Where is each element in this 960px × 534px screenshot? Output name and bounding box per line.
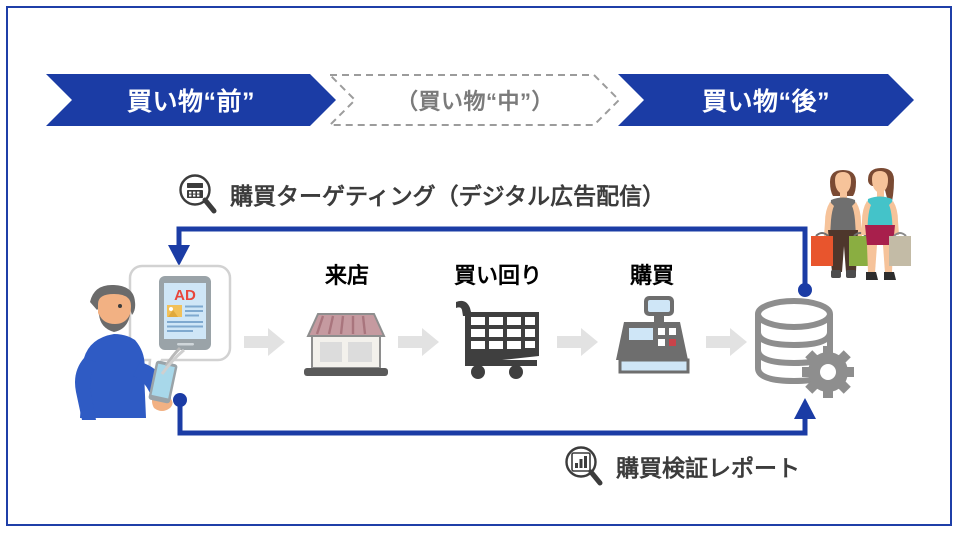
step-arrow-2 [398,327,440,362]
ad-badge-text: AD [174,287,196,304]
step-arrow-1 [244,327,286,362]
two-women-shoppers-icon [806,162,926,301]
magnifier-register-icon [176,172,218,216]
caption-targeting-text: 購買ターゲティング（デジタル広告配信） [230,177,665,211]
step-label-browse: 買い回り [438,258,558,290]
database-gear-icon [748,296,858,405]
step-label-visit: 来店 [300,258,394,290]
magnifier-chart-icon [562,444,604,488]
shopping-cart-icon [452,296,552,385]
shopper-right [861,168,911,280]
phase-chevron-after[interactable]: 買い物“後” [618,74,914,126]
man-with-smartphone-ad-icon: AD [42,262,232,447]
gear-icon [802,346,854,398]
caption-targeting: 購買ターゲティング（デジタル広告配信） [176,172,665,216]
slide-canvas: 買い物“前” （買い物“中”） 買い物“後” [0,0,960,534]
phase-label-after: 買い物“後” [702,82,830,118]
caption-report: 購買検証レポート [562,444,800,488]
phase-chevron-before[interactable]: 買い物“前” [46,74,336,126]
step-arrow-3 [557,327,599,362]
step-arrow-4 [706,327,748,362]
phase-chevron-during[interactable]: （買い物“中”） [330,74,620,126]
phase-label-before: 買い物“前” [127,82,255,118]
phase-label-during: （買い物“中”） [396,84,554,116]
caption-report-text: 購買検証レポート [616,449,800,483]
cash-register-icon [604,290,704,389]
storefront-icon [296,300,396,385]
step-label-purchase: 購買 [605,258,699,290]
